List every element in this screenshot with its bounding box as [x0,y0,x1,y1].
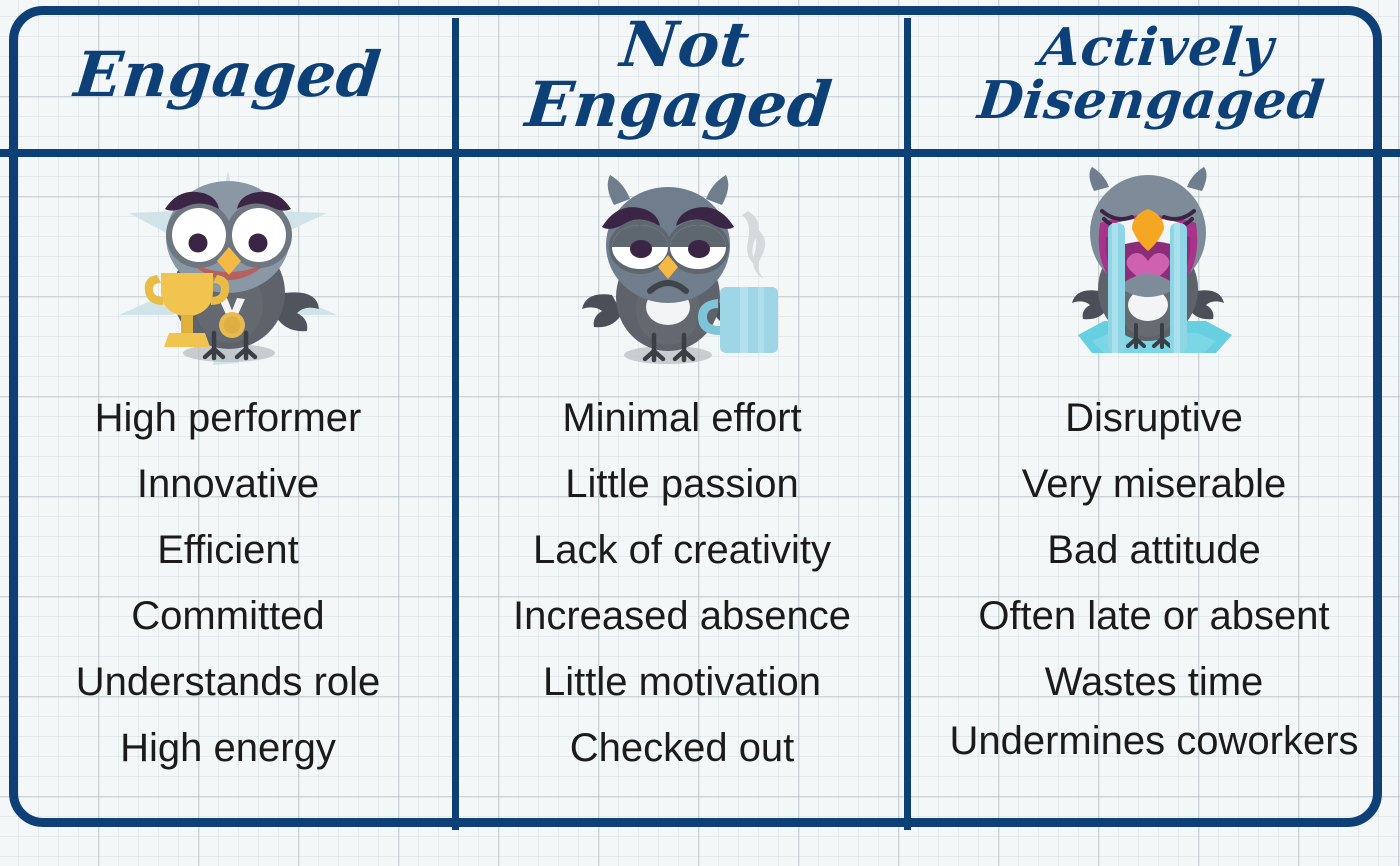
trait-item: Lack of creativity [470,517,894,583]
trait-item: Bad attitude [922,517,1386,583]
column-title-not-engaged: Not Engaged [450,15,915,134]
column-actively-disengaged: Actively Disengaged [908,0,1400,866]
traits-list-actively-disengaged: Disruptive Very miserable Bad attitude O… [908,385,1400,767]
trait-item: Little motivation [470,649,894,715]
traits-list-engaged: High performer Innovative Efficient Comm… [0,385,456,781]
crying-owl-icon [908,160,1400,375]
trait-item: Wastes time [922,649,1386,715]
column-title-actively-disengaged: Actively Disengaged [975,21,1332,127]
column-not-engaged: Not Engaged [456,0,908,866]
column-engaged: Engaged [0,0,456,866]
trait-item: Often late or absent [922,583,1386,649]
column-header-engaged: Engaged [0,0,456,149]
trait-item: Minimal effort [470,385,894,451]
trait-item: High energy [14,715,442,781]
trait-item: Little passion [470,451,894,517]
trait-item: Checked out [470,715,894,781]
trait-item: Undermines coworkers [922,715,1386,767]
tired-owl-with-coffee-mug-icon [456,160,908,375]
column-title-line-1: Actively [981,21,1332,74]
trait-item: Increased absence [470,583,894,649]
trait-item: Disruptive [922,385,1386,451]
engagement-comparison-infographic: Engaged [0,0,1400,866]
trait-item: Committed [14,583,442,649]
trait-item: High performer [14,385,442,451]
column-title-line-2: Disengaged [975,75,1326,128]
happy-owl-with-trophy-icon [0,160,456,375]
traits-list-not-engaged: Minimal effort Little passion Lack of cr… [456,385,908,781]
trait-item: Efficient [14,517,442,583]
column-header-actively-disengaged: Actively Disengaged [908,0,1400,149]
trait-item: Innovative [14,451,442,517]
column-header-not-engaged: Not Engaged [456,0,908,149]
trait-item: Understands role [14,649,442,715]
columns-container: Engaged [0,0,1400,866]
trait-item: Very miserable [922,451,1386,517]
column-title-engaged: Engaged [72,45,384,105]
